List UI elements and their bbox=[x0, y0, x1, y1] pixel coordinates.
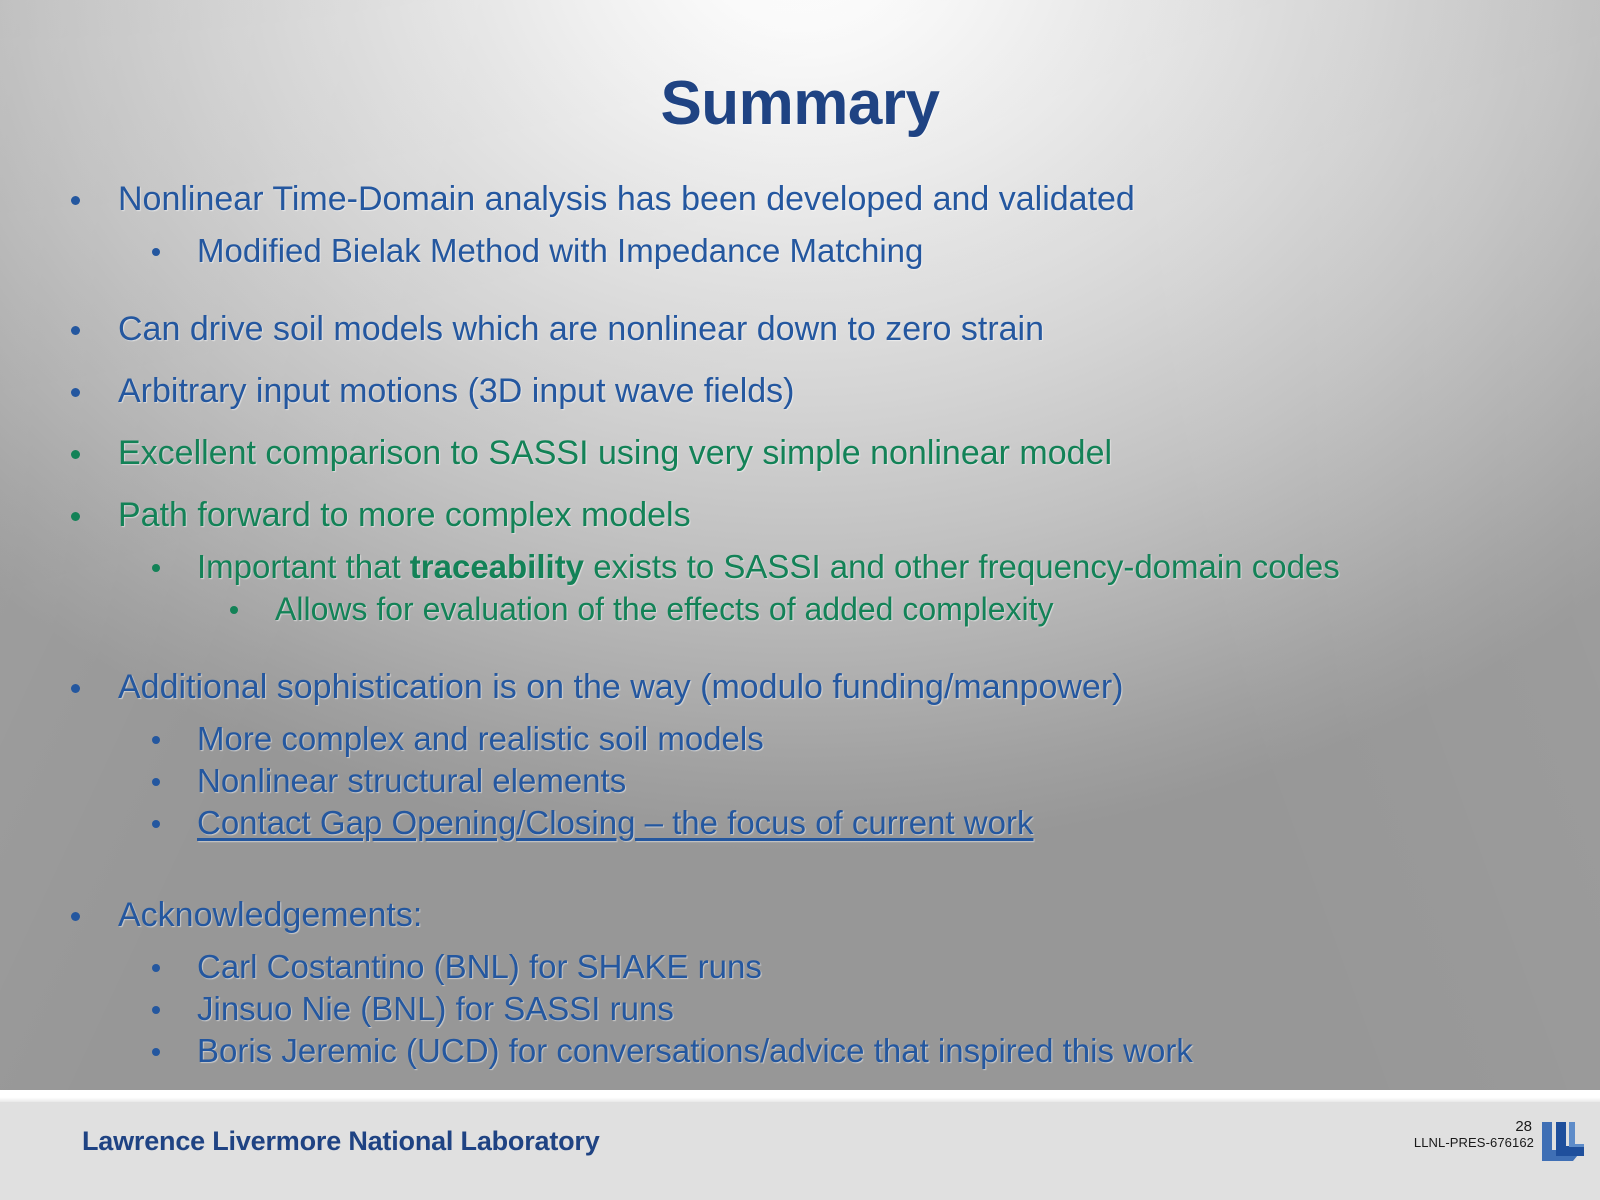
bullet-item: Nonlinear structural elements bbox=[0, 760, 1600, 802]
bullet-text: Boris Jeremic (UCD) for conversations/ad… bbox=[197, 1030, 1193, 1072]
bullet-item: Acknowledgements: bbox=[0, 884, 1600, 946]
spacer bbox=[0, 272, 1600, 298]
slide-body: Nonlinear Time-Domain analysis has been … bbox=[0, 168, 1600, 1072]
bullet-item: Nonlinear Time-Domain analysis has been … bbox=[0, 168, 1600, 230]
bullet-marker bbox=[152, 820, 160, 828]
bullet-marker bbox=[152, 778, 160, 786]
bullet-item: Path forward to more complex models bbox=[0, 484, 1600, 546]
slide-title: Summary bbox=[0, 68, 1600, 139]
bullet-text: Nonlinear structural elements bbox=[197, 760, 626, 802]
bullet-marker bbox=[152, 736, 160, 744]
spacer bbox=[0, 844, 1600, 884]
bullet-item: Boris Jeremic (UCD) for conversations/ad… bbox=[0, 1030, 1600, 1072]
bullet-marker bbox=[71, 912, 80, 921]
bullet-marker bbox=[71, 684, 80, 693]
bullet-text: Contact Gap Opening/Closing – the focus … bbox=[197, 802, 1033, 844]
bullet-text: Excellent comparison to SASSI using very… bbox=[118, 422, 1112, 484]
page-number: 28 bbox=[1414, 1118, 1532, 1135]
bullet-text: Nonlinear Time-Domain analysis has been … bbox=[118, 168, 1135, 230]
bullet-item: Arbitrary input motions (3D input wave f… bbox=[0, 360, 1600, 422]
bullet-marker bbox=[71, 512, 80, 521]
bullet-text: Can drive soil models which are nonlinea… bbox=[118, 298, 1044, 360]
bullet-text-before: Important that bbox=[197, 548, 410, 585]
bullet-text: More complex and realistic soil models bbox=[197, 718, 764, 760]
footer-right-group: 28 LLNL-PRES-676162 bbox=[1414, 1116, 1586, 1164]
bullet-marker bbox=[152, 1048, 160, 1056]
bullet-marker bbox=[71, 196, 80, 205]
bullet-item: Excellent comparison to SASSI using very… bbox=[0, 422, 1600, 484]
bullet-text: Allows for evaluation of the effects of … bbox=[275, 588, 1054, 630]
footer-meta: 28 LLNL-PRES-676162 bbox=[1414, 1116, 1534, 1151]
footer-separator bbox=[0, 1090, 1600, 1102]
bullet-item: Important that traceability exists to SA… bbox=[0, 546, 1600, 588]
bullet-text: Important that traceability exists to SA… bbox=[197, 546, 1340, 588]
llnl-logo bbox=[1540, 1120, 1586, 1164]
bullet-text: Carl Costantino (BNL) for SHAKE runs bbox=[197, 946, 762, 988]
spacer bbox=[0, 630, 1600, 656]
bullet-text: Acknowledgements: bbox=[118, 884, 422, 946]
bullet-item: More complex and realistic soil models bbox=[0, 718, 1600, 760]
bullet-item: Contact Gap Opening/Closing – the focus … bbox=[0, 802, 1600, 844]
footer-organization: Lawrence Livermore National Laboratory bbox=[82, 1126, 600, 1157]
bullet-text-emphasis: traceability bbox=[410, 548, 584, 585]
bullet-marker bbox=[152, 564, 160, 572]
bullet-marker bbox=[71, 388, 80, 397]
presentation-id: LLNL-PRES-676162 bbox=[1414, 1135, 1534, 1151]
bullet-text: Additional sophistication is on the way … bbox=[118, 656, 1123, 718]
bullet-item: Jinsuo Nie (BNL) for SASSI runs bbox=[0, 988, 1600, 1030]
bullet-item: Modified Bielak Method with Impedance Ma… bbox=[0, 230, 1600, 272]
bullet-item: Carl Costantino (BNL) for SHAKE runs bbox=[0, 946, 1600, 988]
bullet-marker bbox=[230, 606, 238, 614]
bullet-marker bbox=[152, 248, 160, 256]
bullet-text: Jinsuo Nie (BNL) for SASSI runs bbox=[197, 988, 674, 1030]
bullet-text: Path forward to more complex models bbox=[118, 484, 691, 546]
bullet-item: Additional sophistication is on the way … bbox=[0, 656, 1600, 718]
bullet-text: Modified Bielak Method with Impedance Ma… bbox=[197, 230, 923, 272]
bullet-marker bbox=[152, 1006, 160, 1014]
bullet-text: Arbitrary input motions (3D input wave f… bbox=[118, 360, 795, 422]
bullet-marker bbox=[71, 450, 80, 459]
slide-footer: Lawrence Livermore National Laboratory 2… bbox=[0, 1102, 1600, 1200]
presentation-slide: Summary Nonlinear Time-Domain analysis h… bbox=[0, 0, 1600, 1200]
bullet-text-after: exists to SASSI and other frequency-doma… bbox=[584, 548, 1340, 585]
bullet-item: Allows for evaluation of the effects of … bbox=[0, 588, 1600, 630]
bullet-marker bbox=[71, 326, 80, 335]
bullet-item: Can drive soil models which are nonlinea… bbox=[0, 298, 1600, 360]
bullet-marker bbox=[152, 964, 160, 972]
